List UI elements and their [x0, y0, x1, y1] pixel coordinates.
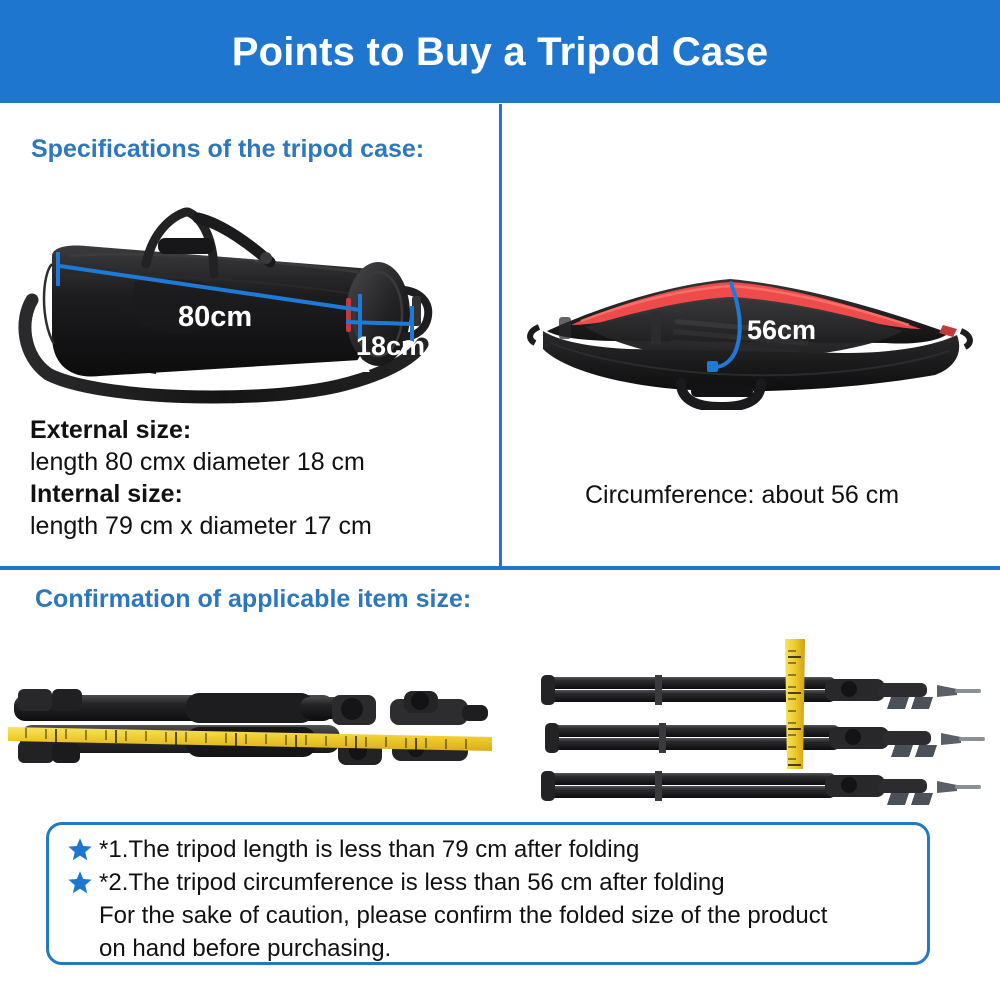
folded-tripod-with-tape-measure-photo	[0, 645, 495, 805]
notes-callout-box: *1.The tripod length is less than 79 cm …	[46, 822, 930, 965]
internal-size-label: Internal size:	[30, 479, 470, 510]
note-continuation-line-1: For the sake of caution, please confirm …	[65, 899, 917, 932]
external-size-value: length 80 cmx diameter 18 cm	[30, 446, 470, 479]
diameter-dimension-label: 18cm	[356, 331, 425, 361]
circumference-dimension-label: 56cm	[747, 315, 816, 345]
notes-list: *1.The tripod length is less than 79 cm …	[65, 833, 917, 965]
note-continuation-line-2: on hand before purchasing.	[65, 932, 917, 965]
internal-size-value: length 79 cm x diameter 17 cm	[30, 510, 470, 543]
page-title: Points to Buy a Tripod Case	[232, 32, 769, 72]
note-1-text: *1.The tripod length is less than 79 cm …	[95, 833, 639, 866]
circumference-caption: Circumference: about 56 cm	[585, 481, 899, 510]
horizontal-divider	[0, 566, 1000, 570]
tripod-case-closed-photo: 80cm 18cm	[8, 190, 458, 405]
tripod-case-open-flat-photo: 56cm	[525, 255, 975, 410]
star-icon	[65, 866, 95, 899]
list-item: *2.The tripod circumference is less than…	[65, 866, 917, 899]
length-dimension-label: 80cm	[178, 301, 252, 333]
note-2-text: *2.The tripod circumference is less than…	[95, 866, 725, 899]
confirmation-heading: Confirmation of applicable item size:	[35, 585, 471, 614]
specifications-heading: Specifications of the tripod case:	[31, 135, 424, 164]
stacked-tripod-legs-with-tape-measure-photo	[505, 625, 995, 810]
star-icon	[65, 833, 95, 866]
header-banner: Points to Buy a Tripod Case	[0, 0, 1000, 103]
infographic-page: Points to Buy a Tripod Case Specificatio…	[0, 0, 1000, 987]
list-item: *1.The tripod length is less than 79 cm …	[65, 833, 917, 866]
specifications-text-block: External size: length 80 cmx diameter 18…	[30, 415, 470, 543]
vertical-divider	[499, 104, 502, 567]
external-size-label: External size:	[30, 415, 470, 446]
